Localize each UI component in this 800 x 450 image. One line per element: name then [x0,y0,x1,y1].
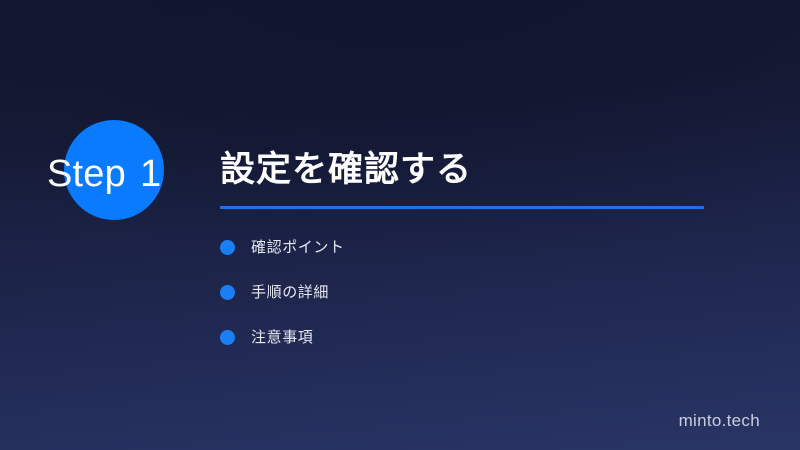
presentation-slide: Step1 設定を確認する 確認ポイント 手順の詳細 注意事項 minto.te… [0,0,800,450]
step-label: Step1 [47,151,161,197]
list-item: 注意事項 [220,327,700,348]
page-title: 設定を確認する [220,146,720,194]
bullet-dot-icon [220,240,235,255]
bullet-list: 確認ポイント 手順の詳細 注意事項 [220,237,700,348]
bullet-dot-icon [220,285,235,300]
step-number: 1 [140,153,161,195]
list-item: 確認ポイント [220,237,700,258]
footer-brand: minto.tech [679,410,760,432]
list-item-label: 手順の詳細 [251,282,329,303]
list-item: 手順の詳細 [220,282,700,303]
step-word: Step [47,153,126,195]
bullet-dot-icon [220,330,235,345]
title-block: 設定を確認する [220,146,720,209]
list-item-label: 注意事項 [251,327,313,348]
list-item-label: 確認ポイント [251,237,345,258]
title-divider [220,206,704,209]
